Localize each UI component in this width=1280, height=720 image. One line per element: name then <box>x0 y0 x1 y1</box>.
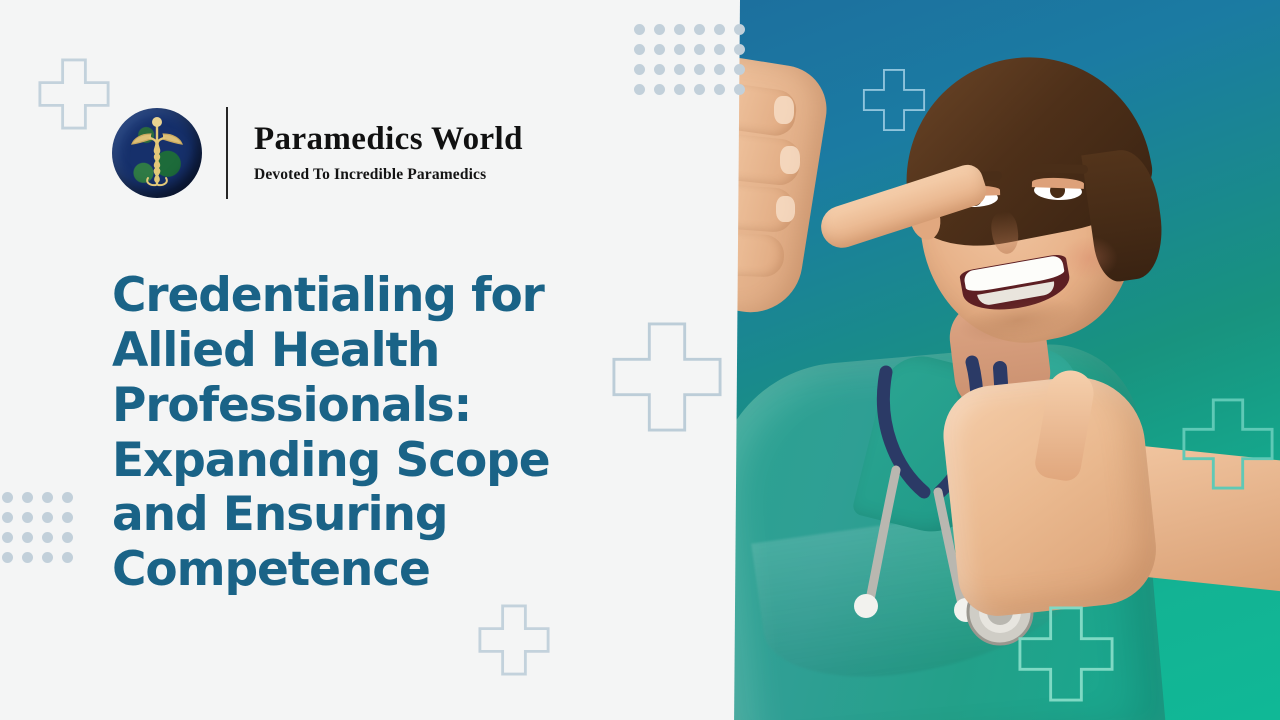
globe-caduceus-logo <box>112 108 202 198</box>
page-title-line: Allied Health <box>112 324 632 379</box>
banner-root: Paramedics World Devoted To Incredible P… <box>0 0 1280 720</box>
grid-dot <box>674 24 685 35</box>
grid-dot <box>734 24 745 35</box>
grid-dot <box>62 552 73 563</box>
grid-dot <box>654 44 665 55</box>
grid-dot <box>734 84 745 95</box>
grid-dot <box>654 24 665 35</box>
page-title: Credentialing forAllied HealthProfession… <box>112 269 632 598</box>
fingernail-1 <box>774 96 794 124</box>
grid-dot <box>62 492 73 503</box>
plus-top-left-icon <box>38 58 110 130</box>
logo-divider <box>226 107 228 199</box>
page-title-line: Expanding Scope <box>112 434 632 489</box>
dot-grid-top <box>634 24 745 95</box>
page-title-line: Credentialing for <box>112 269 632 324</box>
grid-dot <box>22 512 33 523</box>
grid-dot <box>734 44 745 55</box>
grid-dot <box>694 44 705 55</box>
grid-dot <box>42 492 53 503</box>
grid-dot <box>714 44 725 55</box>
grid-dot <box>62 512 73 523</box>
plus-bottom-left-icon <box>478 604 550 676</box>
plus-right-edge-icon <box>1182 398 1274 490</box>
brand-logo[interactable]: Paramedics World Devoted To Incredible P… <box>112 107 523 199</box>
grid-dot <box>2 552 13 563</box>
nurse-photo <box>700 0 1280 720</box>
grid-dot <box>22 532 33 543</box>
plus-top-right-icon <box>862 68 926 132</box>
grid-dot <box>654 84 665 95</box>
grid-dot <box>714 84 725 95</box>
grid-dot <box>634 44 645 55</box>
page-title-line: Competence <box>112 543 632 598</box>
grid-dot <box>42 552 53 563</box>
grid-dot <box>2 512 13 523</box>
grid-dot <box>674 44 685 55</box>
grid-dot <box>734 64 745 75</box>
grid-dot <box>2 492 13 503</box>
dot-grid-bottom-left <box>0 492 73 563</box>
grid-dot <box>674 84 685 95</box>
grid-dot <box>694 84 705 95</box>
page-title-line: Professionals: <box>112 379 632 434</box>
grid-dot <box>634 84 645 95</box>
grid-dot <box>674 64 685 75</box>
grid-dot <box>22 492 33 503</box>
fingernail-3 <box>776 196 795 222</box>
brand-name: Paramedics World <box>254 122 523 157</box>
grid-dot <box>694 24 705 35</box>
brand-tagline: Devoted To Incredible Paramedics <box>254 166 523 184</box>
grid-dot <box>22 552 33 563</box>
grid-dot <box>634 64 645 75</box>
grid-dot <box>714 24 725 35</box>
grid-dot <box>62 532 73 543</box>
page-title-line: and Ensuring <box>112 488 632 543</box>
logo-text-block: Paramedics World Devoted To Incredible P… <box>254 122 523 184</box>
grid-dot <box>714 64 725 75</box>
grid-dot <box>694 64 705 75</box>
grid-dot <box>42 512 53 523</box>
grid-dot <box>634 24 645 35</box>
fingernail-2 <box>780 146 800 174</box>
plus-bottom-right-icon <box>1018 606 1114 702</box>
grid-dot <box>2 532 13 543</box>
grid-dot <box>42 532 53 543</box>
grid-dot <box>654 64 665 75</box>
